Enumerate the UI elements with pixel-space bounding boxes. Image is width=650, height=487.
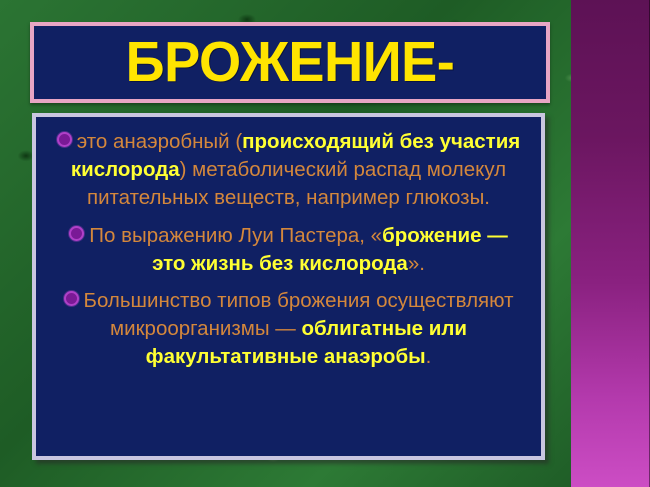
ring-dot-bullet-icon [64,291,79,306]
title-box: БРОЖЕНИЕ- [30,22,550,103]
ring-dot-bullet-icon [57,132,72,147]
list-item: это анаэробный (происходящий без участия… [52,127,525,212]
list-item: Большинство типов брожения осуществляют … [52,286,525,371]
bullet-1-text: это анаэробный (происходящий без участия… [71,130,520,209]
right-purple-band [571,0,650,487]
body-content-box: это анаэробный (происходящий без участия… [32,113,545,460]
bullet-2-text: По выражению Луи Пастера, «брожение — эт… [89,224,508,275]
bullet-3-text: Большинство типов брожения осуществляют … [84,289,514,368]
ring-dot-bullet-icon [69,226,84,241]
page-title: БРОЖЕНИЕ- [126,34,455,91]
list-item: По выражению Луи Пастера, «брожение — эт… [52,221,525,277]
